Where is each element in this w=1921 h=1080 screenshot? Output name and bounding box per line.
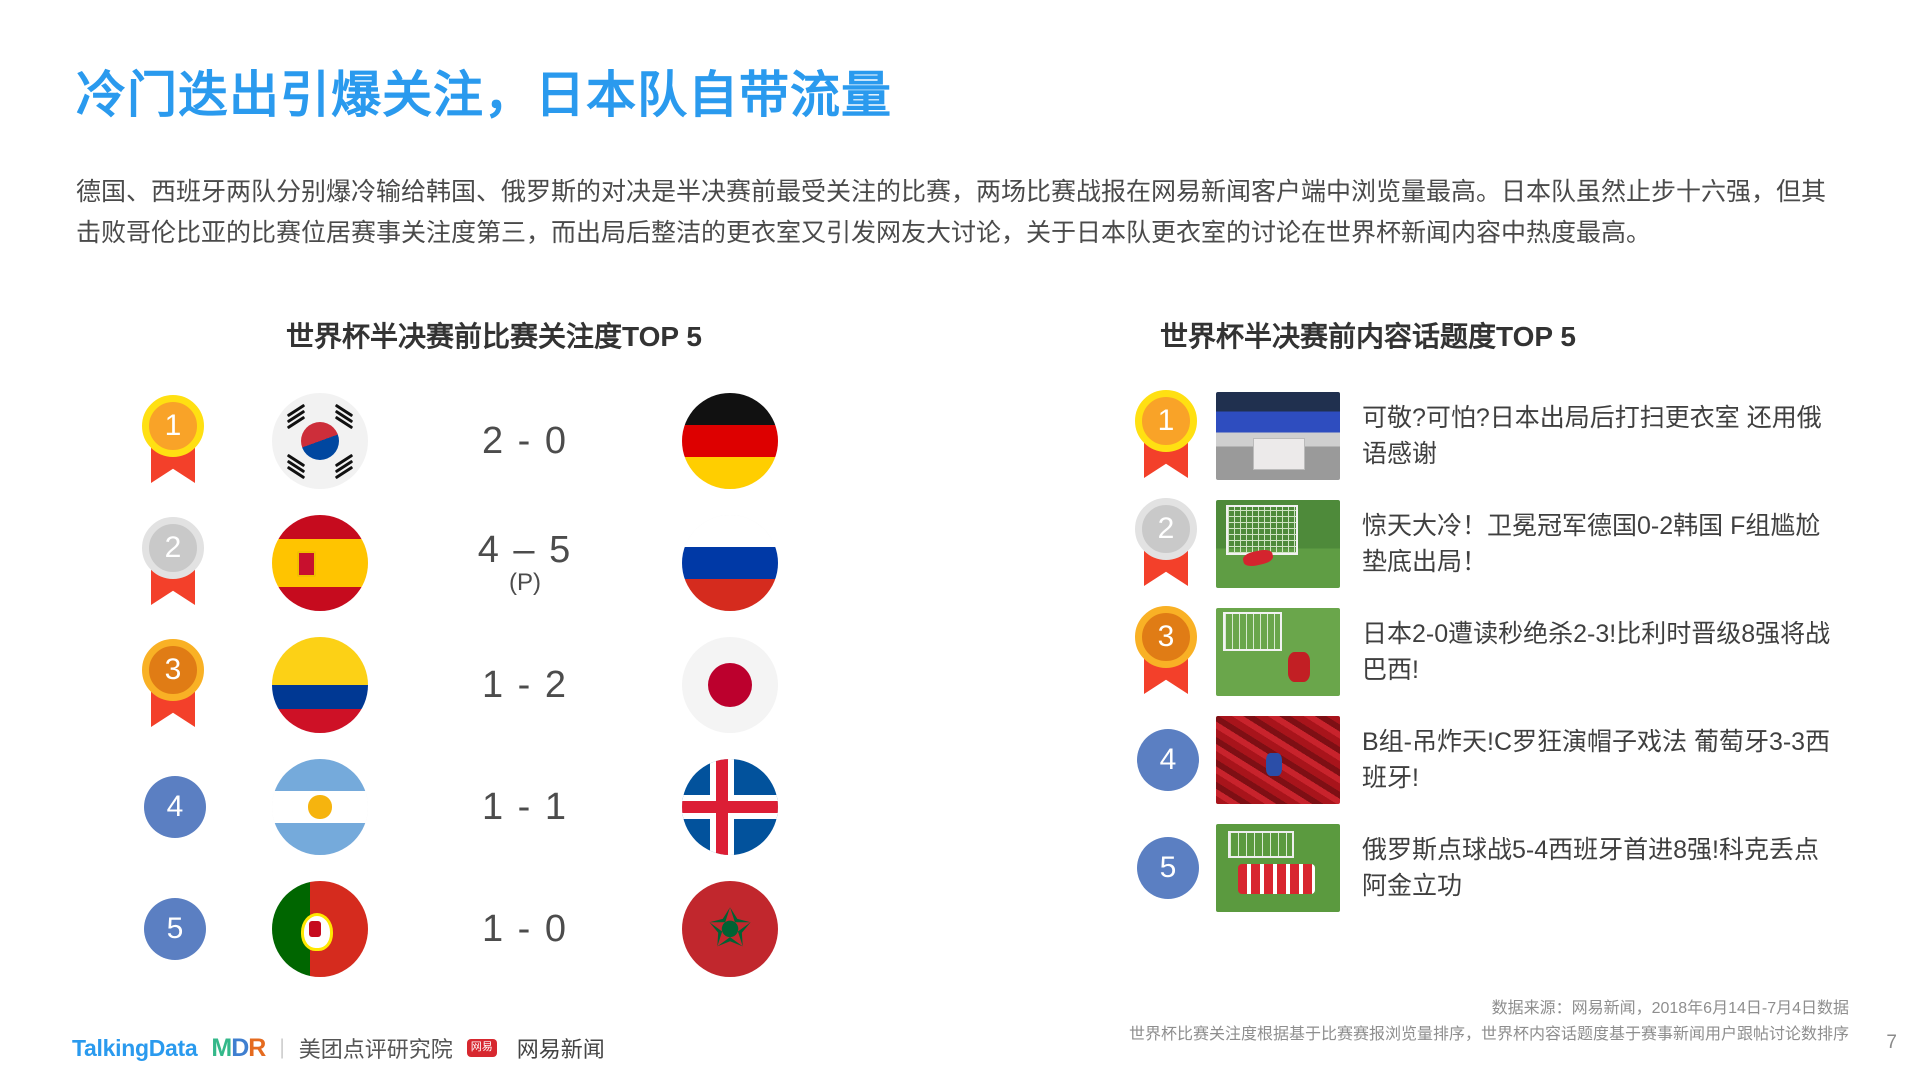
flag-argentina-icon [272, 759, 368, 855]
score-value: 4 – 5 [478, 529, 573, 571]
home-flag-cell [230, 637, 410, 733]
flag-spain-icon [272, 515, 368, 611]
rank-number: 1 [142, 395, 204, 457]
topic-heat-list: 1 可敬?可怕?日本出局后打扫更衣室 还用俄语感谢 2 惊天大冷！卫冕冠军德国0… [1120, 382, 1880, 922]
table-row: 1 [120, 380, 920, 502]
right-column-heading: 世界杯半决赛前内容话题度TOP 5 [1160, 315, 1576, 355]
topic-headline[interactable]: B组-吊炸天!C罗狂演帽子戏法 葡萄牙3-3西班牙! [1362, 724, 1832, 796]
score-value: 1 - 1 [482, 786, 568, 828]
home-flag-cell [230, 515, 410, 611]
rank-cell: 2 [1120, 498, 1216, 590]
rank-number: 3 [1135, 606, 1197, 668]
list-item[interactable]: 4 B组-吊炸天!C罗狂演帽子戏法 葡萄牙3-3西班牙! [1120, 706, 1880, 814]
flag-iceland-icon [682, 759, 778, 855]
away-flag-cell [640, 759, 820, 855]
rank-number: 4 [1137, 729, 1199, 791]
rank-number: 1 [1135, 390, 1197, 452]
home-flag-cell [230, 393, 410, 489]
medal-gold-icon: 1 [142, 395, 208, 487]
topic-headline[interactable]: 惊天大冷！卫冕冠军德国0-2韩国 F组尴尬垫底出局！ [1362, 508, 1832, 580]
flag-morocco-icon: ✬ [682, 881, 778, 977]
rank-cell: 4 [120, 776, 230, 838]
rank-cell: 3 [120, 639, 230, 731]
score-value: 1 - 0 [482, 908, 568, 950]
score-cell: 4 – 5 (P) [410, 529, 640, 596]
page-title: 冷门迭出引爆关注，日本队自带流量 [76, 55, 892, 127]
list-item[interactable]: 1 可敬?可怕?日本出局后打扫更衣室 还用俄语感谢 [1120, 382, 1880, 490]
rank-cell: 1 [120, 395, 230, 487]
flag-japan-icon [682, 637, 778, 733]
topic-headline[interactable]: 日本2-0遭读秒绝杀2-3!比利时晋级8强将战巴西! [1362, 616, 1832, 688]
list-item[interactable]: 2 惊天大冷！卫冕冠军德国0-2韩国 F组尴尬垫底出局！ [1120, 490, 1880, 598]
page-number: 7 [1886, 1032, 1897, 1054]
away-flag-cell [640, 393, 820, 489]
rank-cell: 2 [120, 517, 230, 609]
topic-thumbnail-red-crowd[interactable] [1216, 716, 1340, 804]
footer-logos: TalkingData MDR | 美团点评研究院 网易 网易新闻 [72, 1032, 605, 1064]
rank-cell: 1 [1120, 390, 1216, 482]
mdr-logo: MDR [211, 1034, 265, 1063]
mdr-logo-r: R [248, 1034, 265, 1062]
match-attention-list: 1 [120, 380, 920, 990]
away-flag-cell: ✬ [640, 881, 820, 977]
score-cell: 1 - 2 [410, 664, 640, 707]
topic-thumbnail-celebration[interactable] [1216, 824, 1340, 912]
talkingdata-logo: TalkingData [72, 1035, 197, 1062]
intro-paragraph: 德国、西班牙两队分别爆冷输给韩国、俄罗斯的对决是半决赛前最受关注的比赛，两场比赛… [76, 172, 1836, 254]
score-note: (P) [410, 570, 640, 597]
topic-thumbnail-goal-mouth[interactable] [1216, 500, 1340, 588]
table-row: 3 1 - 2 [120, 624, 920, 746]
medal-bronze-icon: 3 [142, 639, 208, 731]
left-column-heading: 世界杯半决赛前比赛关注度TOP 5 [286, 315, 702, 355]
score-value: 1 - 2 [482, 664, 568, 706]
medal-gold-icon: 1 [1135, 390, 1201, 482]
rank-number: 5 [144, 898, 206, 960]
rank-number: 5 [1137, 837, 1199, 899]
source-note: 数据来源：网易新闻，2018年6月14日-7月4日数据 世界杯比赛关注度根据基于… [1129, 996, 1849, 1048]
rank-cell: 3 [1120, 606, 1216, 698]
rank-cell: 4 [1120, 729, 1216, 791]
home-flag-cell [230, 759, 410, 855]
away-flag-cell [640, 515, 820, 611]
rank-number: 2 [142, 517, 204, 579]
score-cell: 1 - 0 [410, 908, 640, 951]
rank-number: 3 [142, 639, 204, 701]
netease-badge-icon: 网易 [467, 1039, 497, 1057]
netease-news-logo: 网易新闻 [517, 1032, 605, 1064]
medal-silver-icon: 2 [142, 517, 208, 609]
list-item[interactable]: 3 日本2-0遭读秒绝杀2-3!比利时晋级8强将战巴西! [1120, 598, 1880, 706]
flag-russia-icon [682, 515, 778, 611]
topic-thumbnail-pitch-players[interactable] [1216, 608, 1340, 696]
table-row: 5 1 - 0 ✬ [120, 868, 920, 990]
topic-headline[interactable]: 俄罗斯点球战5-4西班牙首进8强!科克丢点阿金立功 [1362, 832, 1832, 904]
medal-silver-icon: 2 [1135, 498, 1201, 590]
table-row: 4 1 - 1 [120, 746, 920, 868]
list-item[interactable]: 5 俄罗斯点球战5-4西班牙首进8强!科克丢点阿金立功 [1120, 814, 1880, 922]
medal-bronze-icon: 3 [1135, 606, 1201, 698]
logo-separator: | [279, 1036, 284, 1060]
flag-south-korea-icon [272, 393, 368, 489]
source-line-2: 世界杯比赛关注度根据基于比赛赛报浏览量排序，世界杯内容话题度基于赛事新闻用户跟帖… [1129, 1022, 1849, 1048]
flag-germany-icon [682, 393, 778, 489]
mdr-logo-m: M [211, 1034, 231, 1062]
mdr-logo-d: D [231, 1034, 248, 1062]
table-row: 2 4 – 5 (P) [120, 502, 920, 624]
meituan-research-logo: 美团点评研究院 [299, 1032, 453, 1064]
topic-headline[interactable]: 可敬?可怕?日本出局后打扫更衣室 还用俄语感谢 [1362, 400, 1832, 472]
score-cell: 1 - 1 [410, 786, 640, 829]
rank-cell: 5 [120, 898, 230, 960]
topic-thumbnail-locker-room[interactable] [1216, 392, 1340, 480]
away-flag-cell [640, 637, 820, 733]
source-line-1: 数据来源：网易新闻，2018年6月14日-7月4日数据 [1129, 996, 1849, 1022]
score-value: 2 - 0 [482, 420, 568, 462]
rank-number: 2 [1135, 498, 1197, 560]
rank-cell: 5 [1120, 837, 1216, 899]
score-cell: 2 - 0 [410, 420, 640, 463]
home-flag-cell [230, 881, 410, 977]
rank-number: 4 [144, 776, 206, 838]
slide-root: 冷门迭出引爆关注，日本队自带流量 德国、西班牙两队分别爆冷输给韩国、俄罗斯的对决… [0, 0, 1921, 1080]
flag-colombia-icon [272, 637, 368, 733]
flag-portugal-icon [272, 881, 368, 977]
